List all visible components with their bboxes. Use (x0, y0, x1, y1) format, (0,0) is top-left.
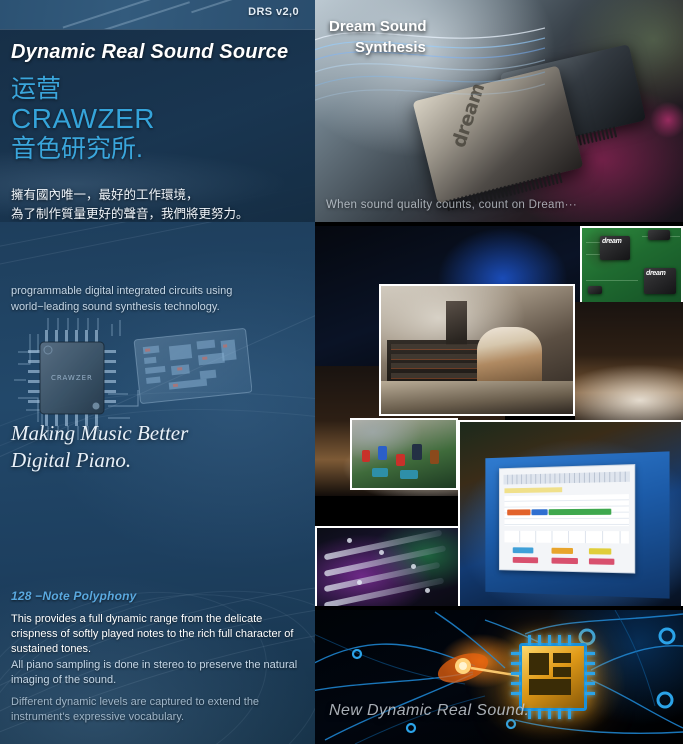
software-tab-strip (503, 472, 630, 484)
photo-software-monitor (458, 420, 683, 606)
pcb-dream-mark-2: dream (646, 270, 666, 277)
polyphony-heading: 128 −Note Polyphony (11, 589, 137, 603)
brand-lab-label: 音色研究所. (11, 135, 155, 164)
hero-subtext-line-2: 為了制作質量更好的聲音，我們將更努力。 (11, 204, 249, 222)
dream-chip-photo: dream Dream Sound S (315, 0, 683, 222)
version-badge: DRS v2,0 (248, 6, 299, 18)
software-highlight-row (505, 487, 562, 493)
tagline: Making Music Better Digital Piano. (11, 420, 188, 474)
photo-blur-warm-right (575, 302, 683, 428)
photo-pcb-green-top: dream dream (580, 226, 683, 304)
hero-subtext-line-1: 擁有國內唯一，最好的工作環境， (11, 185, 249, 204)
neuron-banner (315, 610, 683, 744)
tagline-line-1: Making Music Better (11, 420, 188, 447)
pcb-dream-mark-1: dream (602, 238, 622, 245)
photo-green-circuit-board (350, 418, 458, 490)
studio-engineer (477, 327, 542, 386)
studio-speaker (446, 301, 467, 345)
polyphony-paragraph-2: All piano sampling is done in stereo to … (11, 658, 303, 688)
gold-chip-graphic (519, 643, 587, 711)
mid-copy: programmable digital integrated circuits… (11, 283, 232, 315)
hero-block: Dynamic Real Sound Source 运营 CRAWZER 音色研… (0, 29, 315, 222)
dream-caption: When sound quality counts, count on Drea… (326, 199, 577, 211)
svg-text:CRAWZER: CRAWZER (51, 374, 93, 382)
dream-sound-title-line-1: Dream Sound (329, 18, 427, 35)
drs-brochure-page: DRS v2,0 Dynamic Real Sound Source 运营 CR… (0, 0, 683, 744)
photo-mixer-faders (315, 526, 460, 606)
polyphony-paragraph-1: This provides a full dynamic range from … (11, 612, 303, 657)
brand-operator-label: 运营 (11, 75, 155, 103)
mid-copy-line-2: world−leading sound synthesis technology… (11, 299, 232, 315)
studio-console (381, 381, 573, 414)
monitor-screen (485, 452, 669, 599)
top-strip: DRS v2,0 (0, 0, 315, 29)
hero-subtext: 擁有國內唯一，最好的工作環境， 為了制作質量更好的聲音，我們將更努力。 (11, 185, 249, 222)
brand-block: 运营 CRAWZER 音色研究所. (11, 75, 155, 164)
left-panel: DRS v2,0 Dynamic Real Sound Source 运营 CR… (0, 0, 315, 744)
software-window (499, 464, 636, 573)
polyphony-paragraph-3: Different dynamic levels are captured to… (11, 695, 303, 725)
tagline-line-2: Digital Piano. (11, 447, 188, 474)
brand-name: CRAWZER (11, 103, 155, 135)
new-dynamic-real-sound-title: New Dynamic Real Sound. (329, 702, 529, 720)
neuron-network-graphic (315, 610, 683, 744)
page-title: Dynamic Real Sound Source (11, 41, 288, 64)
mid-copy-line-1: programmable digital integrated circuits… (11, 283, 232, 299)
photo-studio-engineer (379, 284, 575, 416)
photo-collage: dream dream (315, 226, 683, 606)
right-panel: dream Dream Sound S (315, 0, 683, 744)
dream-sound-title: Dream Sound Synthesis (329, 16, 427, 58)
dream-sound-title-line-2: Synthesis (329, 37, 427, 58)
